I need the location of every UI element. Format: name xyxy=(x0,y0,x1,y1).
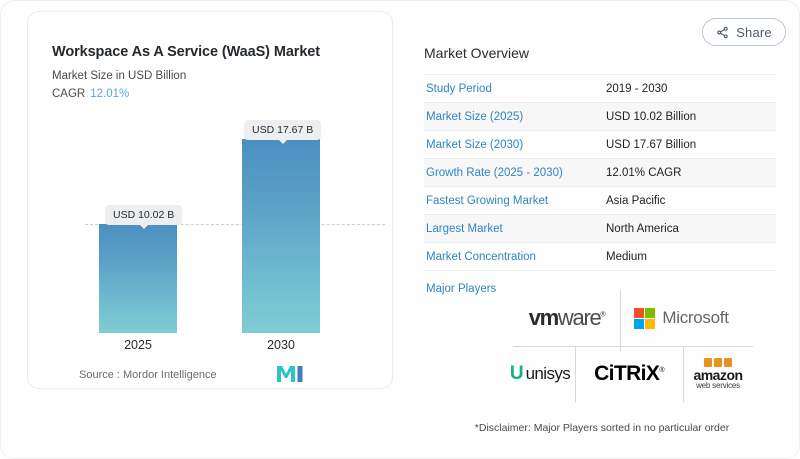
x-tick-2030: 2030 xyxy=(242,338,320,352)
share-icon xyxy=(716,26,729,39)
logo-vmware: vmware® xyxy=(513,290,620,346)
table-row: Market Size (2025) USD 10.02 Billion xyxy=(424,103,776,131)
market-overview-title: Market Overview xyxy=(424,45,776,61)
logo-microsoft: Microsoft xyxy=(620,290,743,346)
row-value: USD 17.67 Billion xyxy=(604,131,776,159)
table-row: Market Size (2030) USD 17.67 Billion xyxy=(424,131,776,159)
chart-title: Workspace As A Service (WaaS) Market xyxy=(52,44,320,60)
chart-cagr-value: 12.01% xyxy=(90,88,129,100)
row-key: Study Period xyxy=(424,75,604,103)
logo-aws: amazon web services xyxy=(683,346,753,402)
row-value: Asia Pacific xyxy=(604,187,776,215)
mordor-intelligence-logo xyxy=(276,365,304,388)
table-row: Study Period 2019 - 2030 xyxy=(424,75,776,103)
bar-chart-plot: USD 10.02 B USD 17.67 B xyxy=(27,108,393,340)
table-row: Fastest Growing Market Asia Pacific xyxy=(424,187,776,215)
major-players-logo-grid: vmware® Microsoft Uunisys CiTRiX® xyxy=(505,290,753,402)
microsoft-squares-icon xyxy=(634,308,655,329)
row-key: Market Concentration xyxy=(424,243,604,271)
row-key: Growth Rate (2025 - 2030) xyxy=(424,159,604,187)
x-tick-2025: 2025 xyxy=(99,338,177,352)
bar-2030[interactable] xyxy=(242,139,320,333)
source-text: Source : Mordor Intelligence xyxy=(79,369,217,381)
bar-label-2030: USD 17.67 B xyxy=(244,120,321,140)
share-button-label: Share xyxy=(736,25,772,40)
row-value: North America xyxy=(604,215,776,243)
row-value: Medium xyxy=(604,243,776,271)
chart-cagr: CAGR12.01% xyxy=(52,88,129,100)
major-players-label: Major Players xyxy=(426,283,496,295)
x-axis-labels: 2025 2030 xyxy=(27,338,393,358)
logo-citrix: CiTRiX® xyxy=(575,346,683,402)
logo-unisys: Uunisys xyxy=(505,346,575,402)
row-key: Market Size (2030) xyxy=(424,131,604,159)
bar-label-2025: USD 10.02 B xyxy=(105,205,182,225)
table-row: Market Concentration Medium xyxy=(424,243,776,271)
market-overview-panel: Market Overview Study Period 2019 - 2030… xyxy=(424,45,776,271)
row-value: 2019 - 2030 xyxy=(604,75,776,103)
row-value: USD 10.02 Billion xyxy=(604,103,776,131)
row-value: 12.01% CAGR xyxy=(604,159,776,187)
row-key: Largest Market xyxy=(424,215,604,243)
chart-source-row: Source : Mordor Intelligence xyxy=(27,363,393,387)
table-row: Growth Rate (2025 - 2030) 12.01% CAGR xyxy=(424,159,776,187)
chart-cagr-label: CAGR xyxy=(52,88,85,100)
row-key: Fastest Growing Market xyxy=(424,187,604,215)
disclaimer-text: *Disclaimer: Major Players sorted in no … xyxy=(427,422,777,434)
share-button[interactable]: Share xyxy=(702,18,786,46)
table-row: Largest Market North America xyxy=(424,215,776,243)
market-overview-table: Study Period 2019 - 2030 Market Size (20… xyxy=(424,74,776,271)
row-key: Market Size (2025) xyxy=(424,103,604,131)
market-snapshot-page: Share Workspace As A Service (WaaS) Mark… xyxy=(0,0,800,459)
aws-boxes-icon xyxy=(704,358,732,367)
bar-2025[interactable] xyxy=(99,224,177,333)
chart-subtitle: Market Size in USD Billion xyxy=(52,70,186,82)
